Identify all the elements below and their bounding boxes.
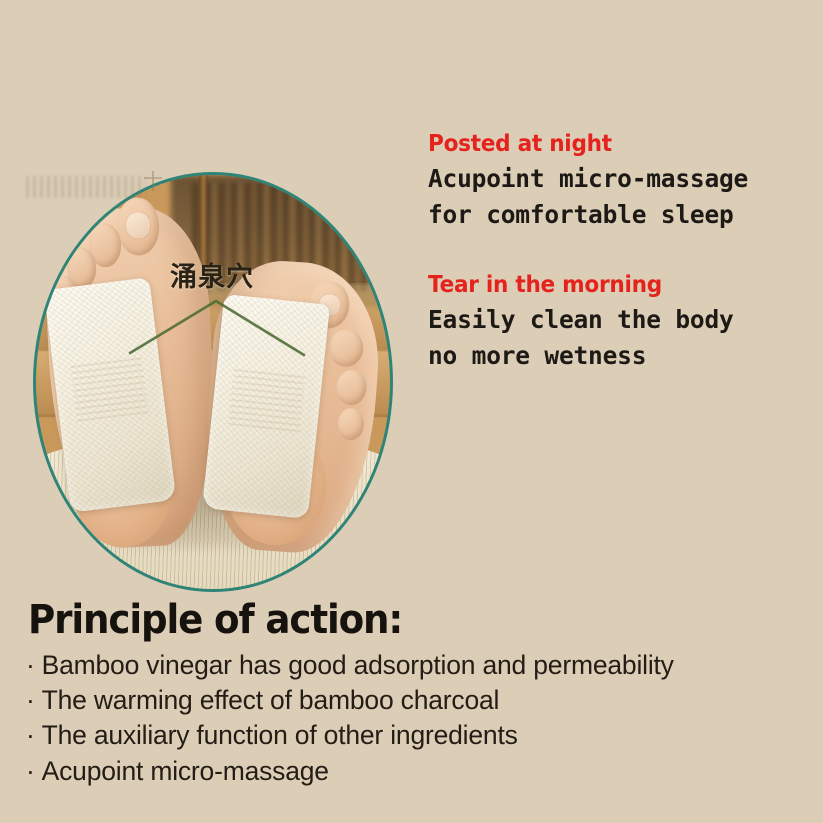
benefit-line: for comfortable sleep — [428, 197, 812, 233]
kicker-tear-in-the-morning: Tear in the morning — [428, 273, 789, 298]
faint-watermark — [26, 176, 146, 198]
acupoint-label: 涌泉穴 — [170, 255, 254, 294]
photo-inner — [36, 175, 390, 589]
feet-photo-circle — [33, 172, 393, 592]
list-item: ·Bamboo vinegar has good adsorption and … — [26, 648, 816, 683]
bullet-dot-icon: · — [26, 650, 35, 680]
toe — [329, 328, 365, 368]
principle-bullet-list: ·Bamboo vinegar has good adsorption and … — [26, 648, 816, 789]
kicker-posted-at-night: Posted at night — [428, 132, 789, 157]
list-item: ·Acupoint micro-massage — [26, 754, 816, 789]
benefits-text-column: Posted at night Acupoint micro-massage f… — [428, 132, 812, 374]
watermark-cross-icon — [142, 170, 164, 192]
chevron-up-pointer-icon — [128, 295, 308, 360]
list-item-label: Bamboo vinegar has good adsorption and p… — [42, 650, 674, 680]
bullet-dot-icon: · — [26, 720, 35, 750]
benefit-line: Acupoint micro-massage — [428, 161, 812, 197]
principle-of-action-heading: Principle of action: — [28, 597, 402, 643]
list-item-label: Acupoint micro-massage — [42, 756, 329, 786]
bullet-dot-icon: · — [26, 756, 35, 786]
toe — [337, 407, 366, 441]
infographic-root: 涌泉穴 Posted at night Acupoint micro-massa… — [0, 0, 823, 823]
benefit-line: Easily clean the body — [428, 302, 812, 338]
toe — [336, 369, 368, 406]
toenail — [126, 212, 151, 240]
list-item-label: The warming effect of bamboo charcoal — [42, 685, 500, 715]
patch-printing — [228, 369, 306, 432]
bullet-dot-icon: · — [26, 685, 35, 715]
list-item: ·The auxiliary function of other ingredi… — [26, 718, 816, 753]
patch-printing — [70, 354, 149, 420]
list-item: ·The warming effect of bamboo charcoal — [26, 683, 816, 718]
benefit-line: no more wetness — [428, 338, 812, 374]
list-item-label: The auxiliary function of other ingredie… — [42, 720, 518, 750]
